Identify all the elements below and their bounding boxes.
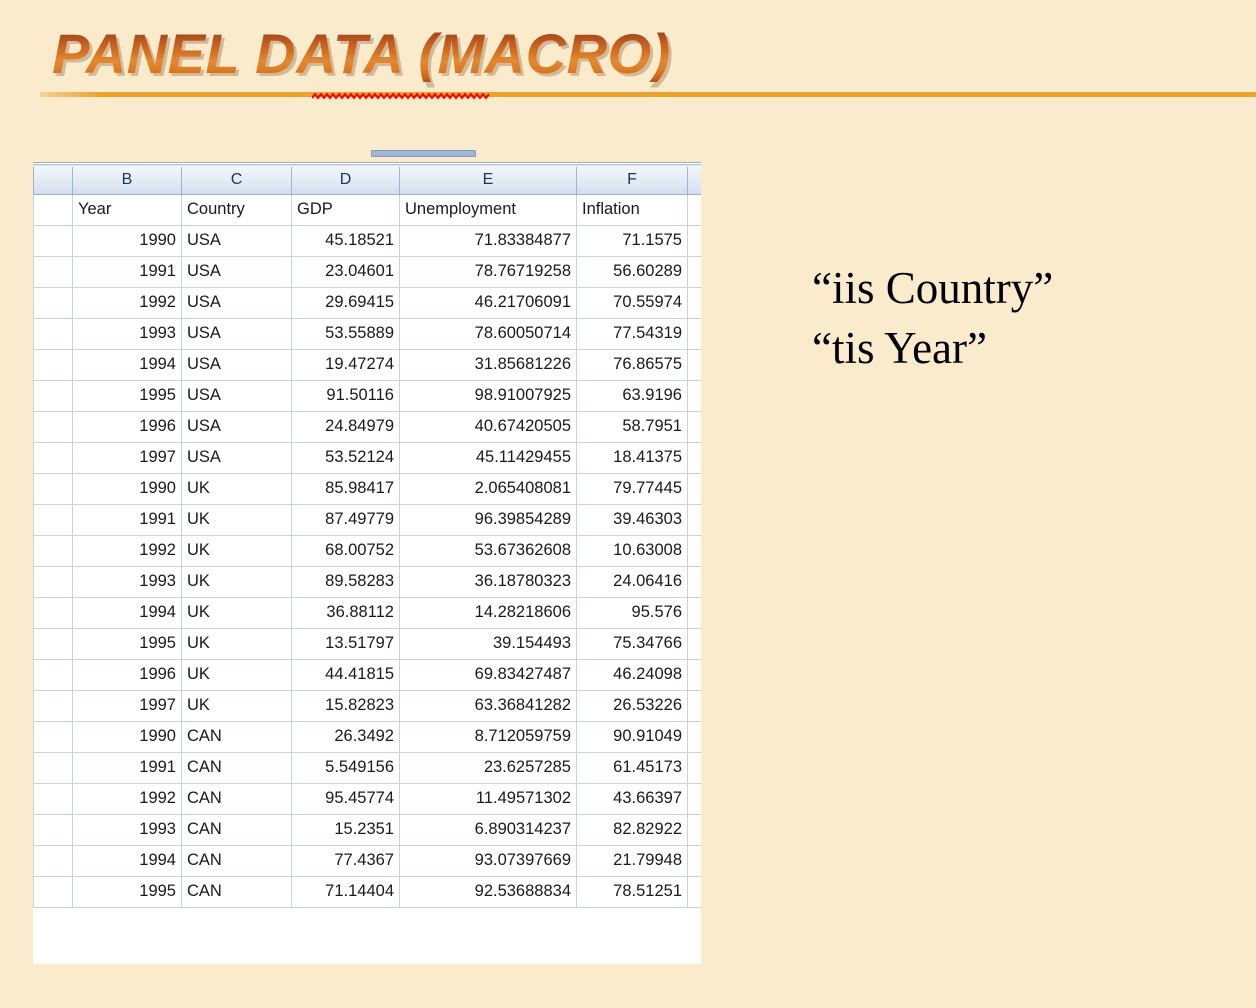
cell-unemployment[interactable]: 71.83384877 [400, 225, 577, 256]
cell-inflation[interactable]: 56.60289 [577, 256, 688, 287]
cell-unemployment[interactable]: 39.154493 [400, 628, 577, 659]
cell-unemployment[interactable]: 45.11429455 [400, 442, 577, 473]
cell-country[interactable]: CAN [182, 783, 292, 814]
cell-year[interactable]: 1996 [73, 411, 182, 442]
cell-country[interactable]: CAN [182, 814, 292, 845]
cell-unemployment[interactable]: 96.39854289 [400, 504, 577, 535]
cell-gdp[interactable]: 95.45774 [292, 783, 400, 814]
row-number-cell[interactable] [34, 752, 73, 783]
spellcheck-squiggle-icon [312, 93, 490, 100]
cell-spacer[interactable] [688, 380, 702, 411]
table-row: 1990UK85.984172.06540808179.77445 [34, 473, 702, 504]
cell-country[interactable]: UK [182, 535, 292, 566]
cell-gdp[interactable]: 85.98417 [292, 473, 400, 504]
table-row: 1996USA24.8497940.6742050558.7951 [34, 411, 702, 442]
cell-spacer[interactable] [688, 504, 702, 535]
cell-spacer[interactable] [688, 597, 702, 628]
cell-year[interactable]: 1994 [73, 845, 182, 876]
cell-inflation[interactable]: 77.54319 [577, 318, 688, 349]
cell-spacer[interactable] [688, 876, 702, 907]
cell-unemployment[interactable]: 69.83427487 [400, 659, 577, 690]
header-cell-year[interactable]: Year [73, 194, 182, 225]
table-row: 1992CAN95.4577411.4957130243.66397 [34, 783, 702, 814]
cell-country[interactable]: USA [182, 411, 292, 442]
annotation-iis-country: “iis Country” [812, 258, 1232, 318]
cell-unemployment[interactable]: 93.07397669 [400, 845, 577, 876]
table-row: 1994UK36.8811214.2821860695.576 [34, 597, 702, 628]
cell-unemployment[interactable]: 40.67420505 [400, 411, 577, 442]
table-body: YearCountryGDPUnemploymentInflation1990U… [34, 194, 702, 907]
cell-gdp[interactable]: 91.50116 [292, 380, 400, 411]
cell-gdp[interactable]: 53.55889 [292, 318, 400, 349]
cell-country[interactable]: UK [182, 597, 292, 628]
cell-inflation[interactable]: 63.9196 [577, 380, 688, 411]
cell-inflation[interactable]: 79.77445 [577, 473, 688, 504]
header-cell-spacer[interactable] [688, 194, 702, 225]
cell-year[interactable]: 1993 [73, 566, 182, 597]
cell-year[interactable]: 1992 [73, 783, 182, 814]
cell-gdp[interactable]: 23.04601 [292, 256, 400, 287]
cell-inflation[interactable]: 78.51251 [577, 876, 688, 907]
cell-gdp[interactable]: 71.14404 [292, 876, 400, 907]
table-row: 1991UK87.4977996.3985428939.46303 [34, 504, 702, 535]
row-number-cell[interactable] [34, 380, 73, 411]
annotation-block: “iis Country” “tis Year” [812, 258, 1232, 378]
cell-country[interactable]: CAN [182, 876, 292, 907]
cell-inflation[interactable]: 18.41375 [577, 442, 688, 473]
table-row: 1993CAN15.23516.89031423782.82922 [34, 814, 702, 845]
header-cell-gdp[interactable]: GDP [292, 194, 400, 225]
column-header-c[interactable]: C [182, 167, 292, 194]
cell-gdp[interactable]: 19.47274 [292, 349, 400, 380]
cell-country[interactable]: UK [182, 566, 292, 597]
cell-country[interactable]: USA [182, 225, 292, 256]
column-header-g[interactable] [688, 167, 702, 194]
cell-inflation[interactable]: 95.576 [577, 597, 688, 628]
cell-unemployment[interactable]: 14.28218606 [400, 597, 577, 628]
cell-spacer[interactable] [688, 318, 702, 349]
cell-gdp[interactable]: 15.2351 [292, 814, 400, 845]
row-number-cell[interactable] [34, 535, 73, 566]
header-cell-unemployment[interactable]: Unemployment [400, 194, 577, 225]
cell-unemployment[interactable]: 11.49571302 [400, 783, 577, 814]
row-number-cell[interactable] [34, 721, 73, 752]
cell-unemployment[interactable]: 8.712059759 [400, 721, 577, 752]
cell-year[interactable]: 1996 [73, 659, 182, 690]
row-number-cell[interactable] [34, 597, 73, 628]
cell-year[interactable]: 1992 [73, 535, 182, 566]
cell-gdp[interactable]: 68.00752 [292, 535, 400, 566]
spreadsheet-screenshot[interactable]: B C D E F YearCountryGDPUnemploymentInfl… [33, 148, 701, 964]
cell-gdp[interactable]: 15.82823 [292, 690, 400, 721]
cell-year[interactable]: 1990 [73, 225, 182, 256]
cell-year[interactable]: 1993 [73, 318, 182, 349]
cell-country[interactable]: USA [182, 380, 292, 411]
cell-country[interactable]: CAN [182, 845, 292, 876]
cell-spacer[interactable] [688, 628, 702, 659]
table-row: 1994USA19.4727431.8568122676.86575 [34, 349, 702, 380]
table-row: 1997USA53.5212445.1142945518.41375 [34, 442, 702, 473]
cell-year[interactable]: 1994 [73, 597, 182, 628]
cell-country[interactable]: USA [182, 256, 292, 287]
cell-country[interactable]: USA [182, 442, 292, 473]
cell-gdp[interactable]: 26.3492 [292, 721, 400, 752]
scrollbar-thumb[interactable] [371, 150, 476, 157]
table-row: 1993UK89.5828336.1878032324.06416 [34, 566, 702, 597]
cell-year[interactable]: 1991 [73, 256, 182, 287]
row-number-cell[interactable] [34, 845, 73, 876]
cell-year[interactable]: 1991 [73, 504, 182, 535]
cell-spacer[interactable] [688, 349, 702, 380]
cell-unemployment[interactable]: 46.21706091 [400, 287, 577, 318]
row-number-cell[interactable] [34, 814, 73, 845]
table-row: 1992USA29.6941546.2170609170.55974 [34, 287, 702, 318]
cell-unemployment[interactable]: 63.36841282 [400, 690, 577, 721]
cell-gdp[interactable]: 44.41815 [292, 659, 400, 690]
table-row: 1994CAN77.436793.0739766921.79948 [34, 845, 702, 876]
cell-spacer[interactable] [688, 256, 702, 287]
cell-spacer[interactable] [688, 752, 702, 783]
row-number-cell[interactable] [34, 349, 73, 380]
cell-spacer[interactable] [688, 535, 702, 566]
cell-inflation[interactable]: 39.46303 [577, 504, 688, 535]
cell-spacer[interactable] [688, 411, 702, 442]
cell-country[interactable]: USA [182, 287, 292, 318]
cell-unemployment[interactable]: 98.91007925 [400, 380, 577, 411]
cell-inflation[interactable]: 82.82922 [577, 814, 688, 845]
cell-inflation[interactable]: 43.66397 [577, 783, 688, 814]
slide-title-area: PANEL DATA (MACRO) PANEL DATA (MACRO) [0, 0, 1256, 120]
table-row: 1990CAN26.34928.71205975990.91049 [34, 721, 702, 752]
cell-country[interactable]: USA [182, 349, 292, 380]
cell-year[interactable]: 1995 [73, 380, 182, 411]
header-row-number-cell[interactable] [34, 194, 73, 225]
cell-year[interactable]: 1990 [73, 473, 182, 504]
cell-country[interactable]: UK [182, 628, 292, 659]
row-number-cell[interactable] [34, 287, 73, 318]
cell-year[interactable]: 1992 [73, 287, 182, 318]
cell-year[interactable]: 1993 [73, 814, 182, 845]
cell-spacer[interactable] [688, 721, 702, 752]
cell-inflation[interactable]: 46.24098 [577, 659, 688, 690]
column-header-d[interactable]: D [292, 167, 400, 194]
row-number-cell[interactable] [34, 504, 73, 535]
row-number-cell[interactable] [34, 318, 73, 349]
cell-inflation[interactable]: 76.86575 [577, 349, 688, 380]
table-row: 1995UK13.5179739.15449375.34766 [34, 628, 702, 659]
cell-country[interactable]: CAN [182, 721, 292, 752]
cell-spacer[interactable] [688, 814, 702, 845]
row-number-cell[interactable] [34, 690, 73, 721]
cell-spacer[interactable] [688, 442, 702, 473]
cell-year[interactable]: 1990 [73, 721, 182, 752]
cell-gdp[interactable]: 45.18521 [292, 225, 400, 256]
cell-year[interactable]: 1997 [73, 442, 182, 473]
cell-inflation[interactable]: 26.53226 [577, 690, 688, 721]
title-divider-rule [40, 92, 1256, 97]
cell-gdp[interactable]: 36.88112 [292, 597, 400, 628]
cell-spacer[interactable] [688, 473, 702, 504]
table-row: 1993USA53.5588978.6005071477.54319 [34, 318, 702, 349]
row-number-cell[interactable] [34, 876, 73, 907]
table-row: 1991CAN5.54915623.625728561.45173 [34, 752, 702, 783]
cell-gdp[interactable]: 29.69415 [292, 287, 400, 318]
row-number-cell[interactable] [34, 659, 73, 690]
cell-inflation[interactable]: 75.34766 [577, 628, 688, 659]
cell-inflation[interactable]: 58.7951 [577, 411, 688, 442]
cell-spacer[interactable] [688, 287, 702, 318]
data-table[interactable]: B C D E F YearCountryGDPUnemploymentInfl… [33, 167, 701, 908]
table-row: 1990USA45.1852171.8338487771.1575 [34, 225, 702, 256]
select-all-corner[interactable] [34, 167, 73, 194]
table-row: 1996UK44.4181569.8342748746.24098 [34, 659, 702, 690]
cell-gdp[interactable]: 13.51797 [292, 628, 400, 659]
cell-year[interactable]: 1995 [73, 628, 182, 659]
column-header-f[interactable]: F [577, 167, 688, 194]
cell-gdp[interactable]: 53.52124 [292, 442, 400, 473]
column-letter-row: B C D E F [34, 167, 702, 194]
table-row: 1995USA91.5011698.9100792563.9196 [34, 380, 702, 411]
row-number-cell[interactable] [34, 442, 73, 473]
cell-unemployment[interactable]: 78.76719258 [400, 256, 577, 287]
row-number-cell[interactable] [34, 256, 73, 287]
table-row: 1995CAN71.1440492.5368883478.51251 [34, 876, 702, 907]
cell-unemployment[interactable]: 31.85681226 [400, 349, 577, 380]
cell-country[interactable]: CAN [182, 752, 292, 783]
horizontal-scrollbar[interactable] [33, 148, 701, 162]
cell-year[interactable]: 1991 [73, 752, 182, 783]
cell-unemployment[interactable]: 6.890314237 [400, 814, 577, 845]
cell-inflation[interactable]: 71.1575 [577, 225, 688, 256]
cell-year[interactable]: 1994 [73, 349, 182, 380]
cell-inflation[interactable]: 24.06416 [577, 566, 688, 597]
header-cell-inflation[interactable]: Inflation [577, 194, 688, 225]
cell-unemployment[interactable]: 92.53688834 [400, 876, 577, 907]
cell-inflation[interactable]: 61.45173 [577, 752, 688, 783]
cell-unemployment[interactable]: 2.065408081 [400, 473, 577, 504]
cell-inflation[interactable]: 70.55974 [577, 287, 688, 318]
row-number-cell[interactable] [34, 411, 73, 442]
cell-gdp[interactable]: 24.84979 [292, 411, 400, 442]
cell-country[interactable]: UK [182, 659, 292, 690]
table-header-row: YearCountryGDPUnemploymentInflation [34, 194, 702, 225]
cell-inflation[interactable]: 21.79948 [577, 845, 688, 876]
cell-spacer[interactable] [688, 659, 702, 690]
cell-gdp[interactable]: 89.58283 [292, 566, 400, 597]
cell-country[interactable]: UK [182, 473, 292, 504]
table-row: 1991USA23.0460178.7671925856.60289 [34, 256, 702, 287]
cell-spacer[interactable] [688, 566, 702, 597]
column-header-e[interactable]: E [400, 167, 577, 194]
cell-unemployment[interactable]: 23.6257285 [400, 752, 577, 783]
row-number-cell[interactable] [34, 473, 73, 504]
cell-unemployment[interactable]: 78.60050714 [400, 318, 577, 349]
row-number-cell[interactable] [34, 783, 73, 814]
cell-unemployment[interactable]: 36.18780323 [400, 566, 577, 597]
cell-gdp[interactable]: 5.549156 [292, 752, 400, 783]
cell-country[interactable]: USA [182, 318, 292, 349]
cell-unemployment[interactable]: 53.67362608 [400, 535, 577, 566]
page-title: PANEL DATA (MACRO) [52, 26, 671, 82]
row-number-cell[interactable] [34, 225, 73, 256]
cell-spacer[interactable] [688, 783, 702, 814]
cell-year[interactable]: 1995 [73, 876, 182, 907]
cell-inflation[interactable]: 10.63008 [577, 535, 688, 566]
header-cell-country[interactable]: Country [182, 194, 292, 225]
column-header-b[interactable]: B [73, 167, 182, 194]
cell-country[interactable]: UK [182, 690, 292, 721]
cell-country[interactable]: UK [182, 504, 292, 535]
annotation-tis-year: “tis Year” [812, 318, 1232, 378]
cell-spacer[interactable] [688, 690, 702, 721]
table-row: 1997UK15.8282363.3684128226.53226 [34, 690, 702, 721]
table-row: 1992UK68.0075253.6736260810.63008 [34, 535, 702, 566]
cell-inflation[interactable]: 90.91049 [577, 721, 688, 752]
cell-year[interactable]: 1997 [73, 690, 182, 721]
row-number-cell[interactable] [34, 566, 73, 597]
row-number-cell[interactable] [34, 628, 73, 659]
cell-spacer[interactable] [688, 225, 702, 256]
cell-spacer[interactable] [688, 845, 702, 876]
cell-gdp[interactable]: 87.49779 [292, 504, 400, 535]
cell-gdp[interactable]: 77.4367 [292, 845, 400, 876]
